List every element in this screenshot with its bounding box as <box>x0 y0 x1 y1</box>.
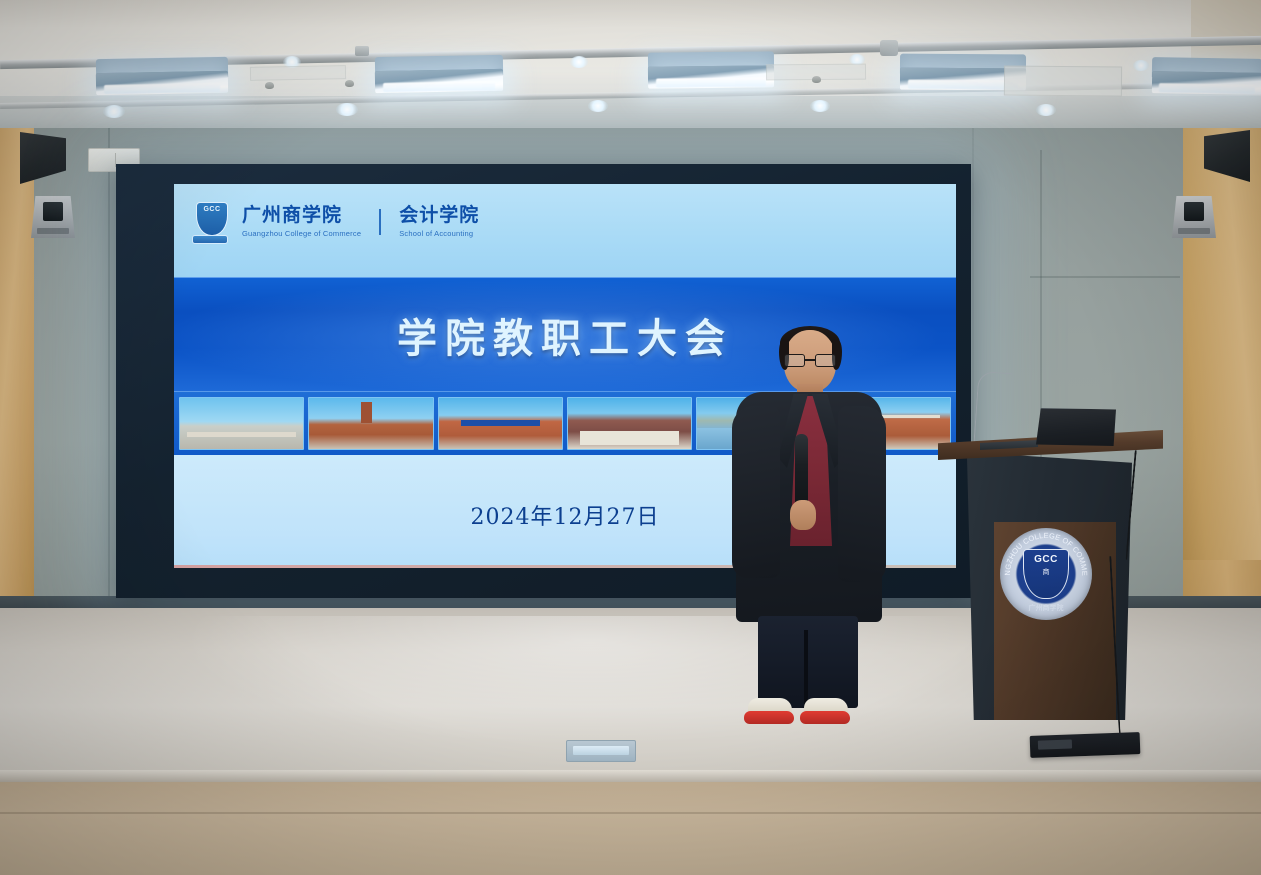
presenter-leg-gap <box>804 630 808 708</box>
lecture-hall-scene: GCC 广州商学院 Guangzhou College of Commerce … <box>0 0 1261 875</box>
gcc-crest-icon: GCC <box>194 202 230 242</box>
wall-seam-1 <box>108 128 110 608</box>
wall-seam-3 <box>1030 276 1180 278</box>
downlight-2 <box>570 56 588 68</box>
campus-gate-photo <box>179 397 304 450</box>
sprinkler-head-2 <box>345 80 354 87</box>
podium-emblem: GUANGZHOU COLLEGE OF COMMERCE GCC 商 广州商学… <box>1000 528 1092 620</box>
laptop-screen[interactable] <box>1036 408 1116 446</box>
ceiling-vent-1 <box>250 65 346 81</box>
floor-joint-1 <box>0 812 1261 814</box>
crest-gcc-label: GCC <box>203 206 220 213</box>
downlight-8 <box>810 100 830 112</box>
campus-plaza-photo <box>438 397 563 450</box>
wall-wood-panel-left <box>0 128 34 628</box>
university-name-block: 广州商学院 Guangzhou College of Commerce <box>242 206 361 238</box>
school-name-en: School of Accounting <box>399 229 479 238</box>
presenter-arm-left <box>732 406 780 578</box>
camera-left-icon <box>31 196 75 238</box>
presenter-hand <box>790 500 816 530</box>
presenter-arm-right <box>838 406 886 582</box>
university-name-cn: 广州商学院 <box>242 206 361 226</box>
emblem-cn-label: 广州商学院 <box>1000 603 1092 613</box>
track-clamp-1 <box>355 46 369 56</box>
ceiling-panel-light-1 <box>96 71 228 95</box>
school-name-block: 会计学院 School of Accounting <box>399 206 479 238</box>
downlight-4 <box>1133 60 1149 71</box>
slide-branding: GCC 广州商学院 Guangzhou College of Commerce … <box>194 202 479 242</box>
floor-cable-port[interactable] <box>566 740 636 762</box>
eyeglasses-icon <box>784 354 836 368</box>
downlight-5 <box>103 105 125 118</box>
campus-sign-photo <box>567 397 692 450</box>
stage-edge <box>0 770 1261 782</box>
branding-divider <box>379 209 381 235</box>
downlight-7 <box>588 100 608 112</box>
downlight-9 <box>1036 104 1056 116</box>
presenter-shoe-left <box>744 698 794 724</box>
presenter-shoe-right <box>800 698 850 724</box>
campus-building-photo <box>308 397 433 450</box>
camera-right-icon <box>1172 196 1216 238</box>
ceiling-panel-light-3 <box>648 65 774 88</box>
downlight-6 <box>336 103 358 116</box>
sprinkler-head-3 <box>812 76 821 83</box>
lower-floor <box>0 782 1261 875</box>
emblem-ring-label: GUANGZHOU COLLEGE OF COMMERCE <box>1000 528 1089 576</box>
ceiling-panel-light-2 <box>375 69 503 93</box>
svg-text:GUANGZHOU COLLEGE OF COMMERCE: GUANGZHOU COLLEGE OF COMMERCE <box>1000 528 1089 576</box>
ceiling-vent-3 <box>1004 65 1122 96</box>
presenter <box>722 330 890 725</box>
school-name-cn: 会计学院 <box>399 206 479 226</box>
presenter-legs <box>758 616 858 708</box>
ceiling-corner-right <box>1191 0 1261 60</box>
power-strip[interactable] <box>1030 732 1141 758</box>
ceiling-panel-light-5 <box>1152 71 1261 95</box>
sprinkler-head-1 <box>265 82 274 89</box>
track-junction-box <box>880 40 898 56</box>
university-name-en: Guangzhou College of Commerce <box>242 229 361 238</box>
